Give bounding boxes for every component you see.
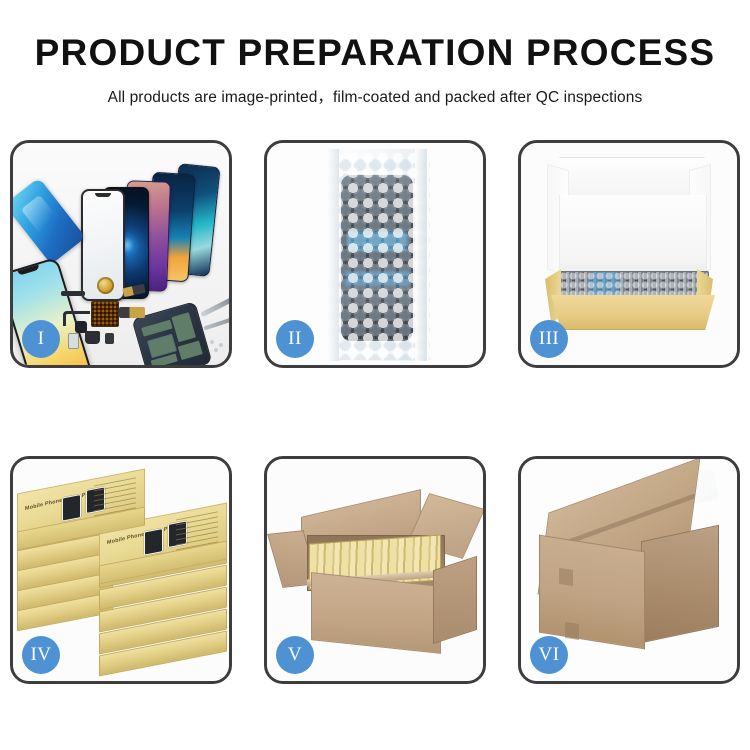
step-panel-2[interactable]: II: [264, 140, 486, 368]
carton-tape-patch: [565, 622, 579, 640]
page-subtitle: All products are image-printed，film-coat…: [0, 85, 750, 107]
internal-connector: [178, 341, 203, 361]
mailer-front-panel: [551, 295, 715, 330]
part-vibration-motor: [97, 277, 114, 294]
step-badge-3: III: [530, 320, 568, 358]
part-flex-cable-b: [119, 307, 145, 318]
carton-tape-patch: [559, 568, 573, 586]
part-camera-module: [75, 321, 87, 333]
step-badge-5: V: [276, 636, 314, 674]
process-steps-grid: I II III: [10, 140, 740, 684]
part-earpiece-mesh: [61, 291, 85, 296]
mailer-contents-wrapped-part: [559, 271, 709, 299]
page-header: PRODUCT PREPARATION PROCESS All products…: [0, 0, 750, 107]
sealed-carton-front: [539, 535, 645, 650]
page-title: PRODUCT PREPARATION PROCESS: [0, 34, 750, 73]
part-loudspeaker: [85, 331, 100, 344]
box-art-screen: [144, 528, 163, 556]
part-button-module: [105, 333, 114, 344]
step-badge-6: VI: [530, 636, 568, 674]
step-panel-1[interactable]: I: [10, 140, 232, 368]
step-panel-3[interactable]: III: [518, 140, 740, 368]
step-badge-4: IV: [22, 636, 60, 674]
box-art-screen: [62, 494, 81, 522]
mailer-inner-wall: [559, 195, 707, 279]
part-ic-chip-grid: [91, 301, 119, 327]
part-sim-tray: [68, 333, 79, 349]
bag-seal-right: [415, 149, 427, 361]
carton-side-panel: [433, 556, 477, 644]
retail-box-labeled: Mobile Phone Spare Parts: [17, 481, 143, 521]
step-badge-2: II: [276, 320, 314, 358]
bubble-highlights: [331, 151, 423, 359]
step-panel-4[interactable]: Mobile Phone Spare Parts Mobile Phone Sp…: [10, 456, 232, 684]
step-badge-1: I: [22, 320, 60, 358]
sealed-carton-side: [641, 525, 719, 644]
bag-seal-left: [327, 149, 339, 361]
bubble-wrap-bag: [327, 149, 427, 361]
carton-front-panel: [311, 572, 441, 654]
step-panel-6[interactable]: VI: [518, 456, 740, 684]
part-screws: [209, 339, 229, 353]
internal-module: [171, 312, 195, 342]
step-panel-5[interactable]: V: [264, 456, 486, 684]
